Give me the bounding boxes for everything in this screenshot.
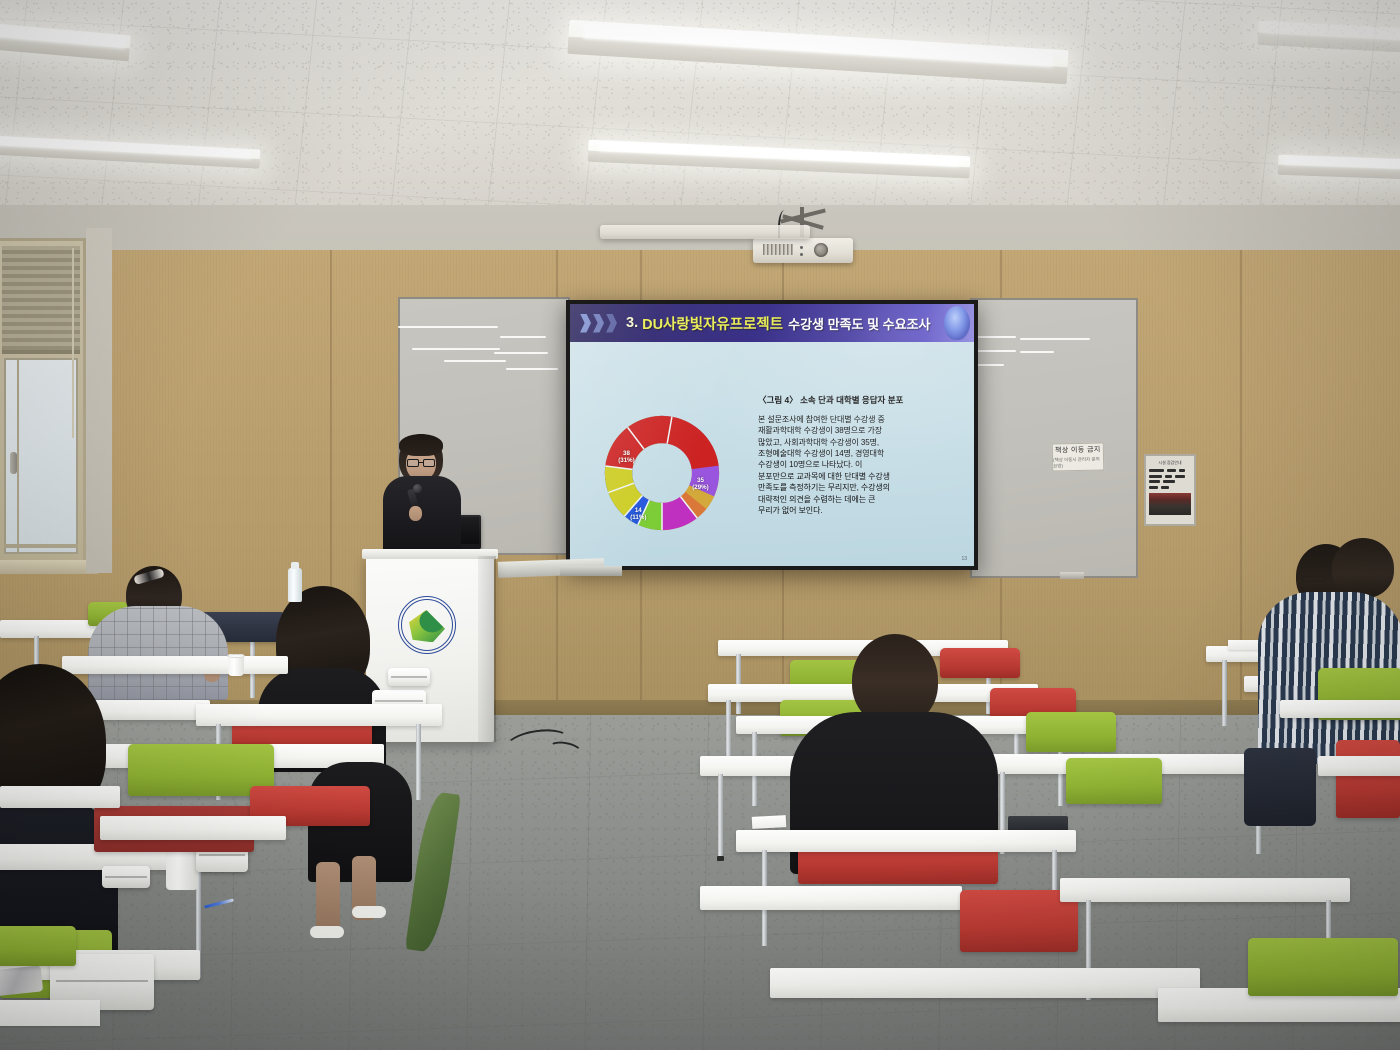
notice-bar [1167,469,1176,472]
notice-bar [1149,475,1162,478]
notice-photo [1149,493,1191,515]
slide-body-text: 본 설문조사에 참여한 단대별 수강생 중 재활과학대학 수강생이 38명으로 … [758,414,970,516]
projector-lens [814,243,828,257]
window-sill [0,560,98,574]
donut-chart-svg [588,405,736,541]
glasses-left-lens [407,459,419,467]
whiteboard-marking [1020,338,1090,340]
desk-leg [416,724,421,800]
window-blinds[interactable] [2,246,80,354]
presenter-hand [409,506,422,521]
chevron-icon [580,314,591,333]
presenter [381,434,465,554]
window-mullion [17,360,19,552]
desk-move-prohibited-sign: 책상 이동 금지 (책상 이동시 관리자 문의 요망) [1052,442,1105,471]
paper-handout [752,815,787,829]
body-line: 대략적인 의견을 수렴하는 데에는 큰 [758,494,970,505]
whiteboard-marker-tray [1060,572,1084,579]
podium-side-shadow [478,556,496,742]
bottle-cap [291,562,299,569]
chair[interactable] [1248,938,1398,996]
chair[interactable] [1066,758,1162,804]
desk-leg [1222,660,1227,726]
audience-torso-checked [88,606,228,700]
lecture-room-photo: 책상 이동 금지 (책상 이동시 관리자 문의 요망) 시설 점검안내 [0,0,1400,1050]
body-line: 조형예술대학 수강생이 14명, 경영대학 [758,448,970,459]
whiteboard-marking [494,352,548,354]
water-bottle [288,568,302,602]
notice-bar [1149,480,1160,483]
notice-bar [1149,486,1158,489]
notice-row [1149,475,1191,478]
desk [100,816,286,840]
desk-leg [718,774,723,858]
audience-leg [316,862,340,932]
projection-screen: 3. DU사랑빛자유프로젝트 수강생 만족도 및 수요조사 [566,300,978,570]
chair[interactable] [1026,712,1116,752]
microphone-head [413,484,422,493]
slide-page-number: 13 [961,556,967,562]
donut-label-2: 35 (29%) [692,477,709,491]
desk [770,968,1200,998]
screen-bottom-rail [560,566,622,576]
shoe [310,926,344,938]
body-line: 재활과학대학 수강생이 38명으로 가장 [758,425,970,436]
chair[interactable] [940,648,1020,678]
notice-rows [1149,469,1191,489]
body-line: 수강생이 10명으로 나타났다. 이 [758,459,970,470]
slide-body: 38 (31%) 35 (29%) 14 (11%) 〈그림 4〉 소속 단과 … [570,342,974,566]
whiteboard-right [970,298,1138,578]
audience-pants [1244,748,1316,826]
podium-emblem [398,596,456,654]
desk [700,886,962,910]
notice-row [1149,480,1191,483]
glasses-right-lens [423,459,435,467]
projector-vent [763,244,793,255]
body-line: 많았고, 사회과학대학 수강생이 35명, [758,437,970,448]
chair[interactable] [1336,740,1400,818]
whiteboard-marking [1020,351,1054,353]
slide-title-bar: 3. DU사랑빛자유프로젝트 수강생 만족도 및 수요조사 [570,304,974,342]
shoe [352,906,386,918]
lunch-box [388,668,430,686]
notice-bar [1179,469,1185,472]
chair[interactable] [0,926,76,966]
slide-title-rest: 수강생 만족도 및 수요조사 [788,314,930,333]
notice-row [1149,486,1191,489]
desk [1318,756,1400,776]
sign-sub-text: (책상 이동시 관리자 문의 요망) [1053,456,1103,469]
notice-bar [1175,475,1185,478]
left-wall-column [86,228,112,573]
whiteboard-marking [444,360,506,362]
body-line: 만족도를 측정하기는 무리지만, 수강생의 [758,482,970,493]
chevron-icon [593,314,604,333]
title-orb-decoration [944,306,970,340]
wall-notice-board: 시설 점검안내 [1144,454,1196,526]
desk [736,830,1076,852]
audience-head [1332,538,1394,598]
cup-rim [227,654,245,658]
donut-label-3: 14 (11%) [630,507,646,521]
desk [0,786,120,808]
notice-bar [1161,486,1169,489]
presenter-torso [383,476,461,554]
desk [1060,878,1350,902]
notice-bar [1165,475,1172,478]
desk-foot [717,856,724,861]
audience-glasses [1302,576,1326,582]
desk [1280,700,1400,718]
lunch-box [102,866,150,888]
donut-label-1: 38 (31%) [618,450,635,464]
slide-title-highlight: DU사랑빛자유프로젝트 [642,313,783,334]
notice-title: 시설 점검안내 [1149,460,1191,466]
whiteboard-marking [506,368,558,370]
figure-caption: 〈그림 4〉 소속 단과 대학별 응답자 분포 [758,394,903,406]
paper-cup [228,654,244,676]
body-line: 무리가 없어 보인다. [758,505,970,516]
window-handle[interactable] [10,452,17,474]
whiteboard-marking [974,364,1004,366]
projector-recess-panel [600,225,810,239]
sign-main-text: 책상 이동 금지 [1055,445,1101,456]
notice-bar [1163,480,1175,483]
slide-title-number: 3. [626,315,638,331]
glasses-bridge [419,462,423,463]
whiteboard-marking [398,326,498,328]
projector-indicator [800,246,803,249]
desk [196,704,442,726]
whiteboard-marking [974,336,1016,338]
blind-cord[interactable] [72,248,74,438]
whiteboard-marking [974,350,1016,352]
desk [62,656,288,674]
chevron-decoration-group [580,314,617,333]
projector-indicator [800,253,803,256]
paper-handout [0,1000,100,1026]
presenter-hair-front [399,434,443,456]
whiteboard-marking [412,348,500,350]
whiteboard-marking [500,336,546,338]
body-line: 본 설문조사에 참여한 단대별 수강생 중 [758,414,970,425]
notice-row [1149,469,1191,472]
notice-bar [1149,469,1164,472]
screen-surface: 3. DU사랑빛자유프로젝트 수강생 만족도 및 수요조사 [570,304,974,566]
chevron-icon [606,314,617,333]
window-mullion [4,544,78,548]
donut-chart: 38 (31%) 35 (29%) 14 (11%) [588,405,736,541]
body-line: 분포만으로 교과목에 대한 단대별 수강생 [758,471,970,482]
